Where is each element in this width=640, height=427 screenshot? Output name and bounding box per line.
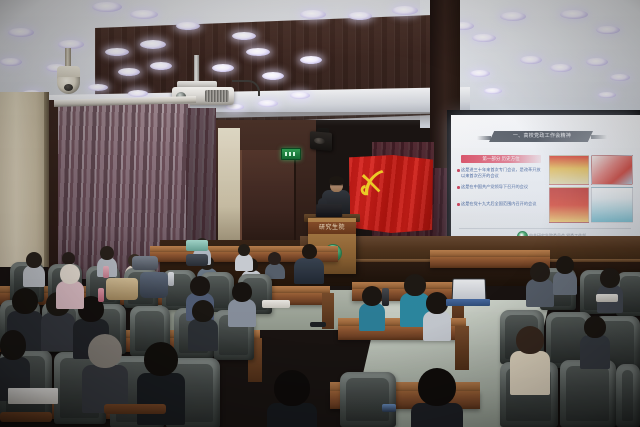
- downlight-31: [470, 70, 490, 77]
- presenter-hair: [329, 176, 344, 185]
- downlight-28: [596, 26, 620, 34]
- audience-torso-right-b-1: [359, 303, 385, 331]
- downlight-23: [392, 6, 418, 15]
- slide-bullet-2: 这是在党十九大后全国范围内召开的会议: [461, 201, 543, 207]
- downlight-10: [88, 84, 108, 91]
- slide-bullet-marker-0: [457, 169, 460, 172]
- thermos-bottle: [382, 288, 389, 306]
- smartphone: [310, 322, 326, 327]
- downlight-8: [118, 68, 140, 76]
- audience-head-mid-blue: [190, 276, 210, 296]
- downlight-9: [150, 62, 172, 70]
- audience-head-back-left-2: [100, 246, 114, 260]
- audience-head-far-4: [268, 252, 281, 265]
- camera-lens-icon: [64, 84, 73, 91]
- audience-torso-right-beige: [510, 351, 550, 395]
- thumb-poster-red: [549, 187, 589, 223]
- slide-bullet-marker-2: [457, 203, 460, 206]
- audience-torso-front-far-right: [411, 403, 463, 427]
- audience-head-front-bald: [88, 334, 122, 368]
- downlight-15: [246, 48, 270, 56]
- audience-torso-far-light-hair: [56, 281, 84, 309]
- downlight-16: [212, 64, 234, 72]
- audience-head-front-edge: [0, 330, 26, 360]
- handbag-tan: [106, 278, 138, 300]
- projection-screen: 一、高校党政工作会精神 第一部分 历史方位 这是进三十年来首次专门会议，是改革开…: [451, 115, 640, 251]
- seat-armrest-front-2: [0, 412, 52, 422]
- downlight-17: [262, 72, 284, 80]
- downlight-18: [300, 56, 322, 64]
- left-column: [0, 92, 46, 267]
- audience-torso-mid-row-x: [188, 319, 218, 351]
- audience-torso-left-mid-2: [41, 313, 75, 351]
- conference-hall-photo: 一、高校党政工作会精神 第一部分 历史方位 这是进三十年来首次专门会议，是改革开…: [0, 0, 640, 427]
- audience-head-front-dark: [144, 342, 178, 376]
- slide-bullet-1: 这是在中国共产党领导下召开的会议: [461, 184, 543, 190]
- audience-torso-front-dark: [137, 373, 185, 425]
- paper-document: [8, 388, 58, 404]
- downlight-25: [472, 34, 496, 42]
- projector-mount-rod: [194, 55, 199, 83]
- thumb-red-banner: [549, 155, 589, 185]
- seat-row-b-right-inner-2: [620, 276, 640, 312]
- slide-footer-divider: [459, 228, 631, 229]
- bag-dark: [186, 254, 208, 266]
- downlight-29: [520, 56, 542, 64]
- wall-mounted-speaker-icon: [310, 131, 332, 151]
- audience-head-suit: [302, 244, 317, 259]
- downlight-36: [300, 10, 326, 19]
- downlight-5: [105, 48, 129, 56]
- audience-torso-front-right-dark: [267, 403, 317, 427]
- paper-document-2: [262, 300, 290, 308]
- slide-subheading: 第一部分 历史方位: [465, 155, 537, 163]
- projector-vent: [205, 90, 229, 102]
- back-wall-light-strip: [218, 128, 240, 240]
- projector-cable: [232, 80, 260, 96]
- green-storage-box: [186, 240, 208, 251]
- downlight-33: [610, 74, 630, 81]
- downlight-34: [484, 88, 502, 94]
- smartphone-2: [382, 404, 396, 412]
- water-bottle-pink: [98, 288, 104, 302]
- downlight-37: [176, 22, 200, 30]
- audience-head-front-far-right: [418, 368, 456, 406]
- downlight-20: [290, 92, 310, 99]
- downlight-3: [0, 58, 22, 66]
- left-column-edge: [44, 92, 49, 267]
- audience-torso-right-pale: [423, 311, 451, 341]
- backpack-gray: [140, 272, 168, 298]
- audience-laptop-base: [446, 299, 490, 306]
- thumb-meeting-photo: [591, 155, 633, 185]
- audience-head-right-far: [530, 262, 550, 282]
- audience-torso-right-far: [526, 279, 554, 307]
- audience-head-far-light-hair: [60, 264, 80, 284]
- downlight-32: [550, 64, 572, 72]
- thermos-bottle-2: [168, 272, 174, 286]
- jacket-on-seat: [132, 256, 158, 270]
- audience-head-left-mid-1: [12, 288, 38, 314]
- downlight-26: [500, 12, 526, 21]
- water-bottle-pink-2: [103, 266, 109, 278]
- audience-head-right-far-2: [556, 256, 574, 274]
- seat-armrest-front-1: [104, 404, 166, 414]
- downlight-30: [586, 58, 608, 66]
- audience-head-back-left-1: [26, 252, 42, 268]
- downlight-0: [8, 28, 34, 37]
- audience-head-mid-gray: [232, 282, 252, 302]
- podium-label: 研究生院: [310, 223, 354, 233]
- slide-ribbon-tail-left: [477, 136, 491, 140]
- audience-head-right-beige: [516, 326, 544, 354]
- audience-torso-suit: [294, 258, 324, 284]
- audience-head-right-b-1: [362, 286, 382, 306]
- slide-ribbon-tail-right: [591, 135, 607, 139]
- downlight-14: [232, 32, 256, 40]
- seat-row-d-right-inner-0: [346, 378, 389, 421]
- audience-torso-right-dark: [580, 335, 610, 369]
- thumb-infographic: [591, 187, 633, 223]
- audience-head-right-far-3: [600, 268, 620, 288]
- downlight-4: [58, 40, 84, 49]
- emergency-exit-sign-icon: [281, 148, 301, 160]
- audience-torso-back-left-1: [23, 265, 45, 287]
- downlight-2: [130, 10, 158, 19]
- audience-head-right-teal: [404, 274, 426, 296]
- desk-row-c-right-endcap: [455, 326, 469, 370]
- slide-bullet-marker-1: [457, 186, 460, 189]
- back-door[interactable]: [240, 150, 296, 242]
- audience-head-right-pale: [426, 292, 448, 314]
- slide-bullet-0: 这是进三十年来首次专门会议，是改革开放以来首次召开的会议: [461, 167, 543, 179]
- audience-torso-right-far-2: [553, 271, 577, 295]
- downlight-1: [92, 2, 122, 12]
- podium-laptop: [316, 204, 343, 217]
- downlight-11: [128, 90, 148, 97]
- downlight-22: [348, 12, 372, 20]
- audience-head-front-right-dark: [274, 370, 310, 406]
- paper-document-3: [596, 294, 618, 302]
- audience-head-far-2: [238, 244, 250, 256]
- seat-row-d-right-inner-3: [622, 370, 633, 421]
- downlight-35: [598, 92, 616, 98]
- downlight-6: [140, 40, 166, 49]
- audience-torso-mid-gray: [228, 299, 256, 327]
- downlight-19: [258, 100, 278, 107]
- audience-head-mid-row-x: [192, 300, 214, 322]
- downlight-27: [560, 10, 588, 19]
- wall-curtain-mid: [186, 108, 216, 258]
- slide-title: 一、高校党政工作会精神: [495, 132, 589, 141]
- hammer-and-sickle-icon: [356, 166, 392, 200]
- seat-row-d-right-inner-2: [566, 366, 609, 421]
- audience-head-right-dark: [584, 316, 606, 338]
